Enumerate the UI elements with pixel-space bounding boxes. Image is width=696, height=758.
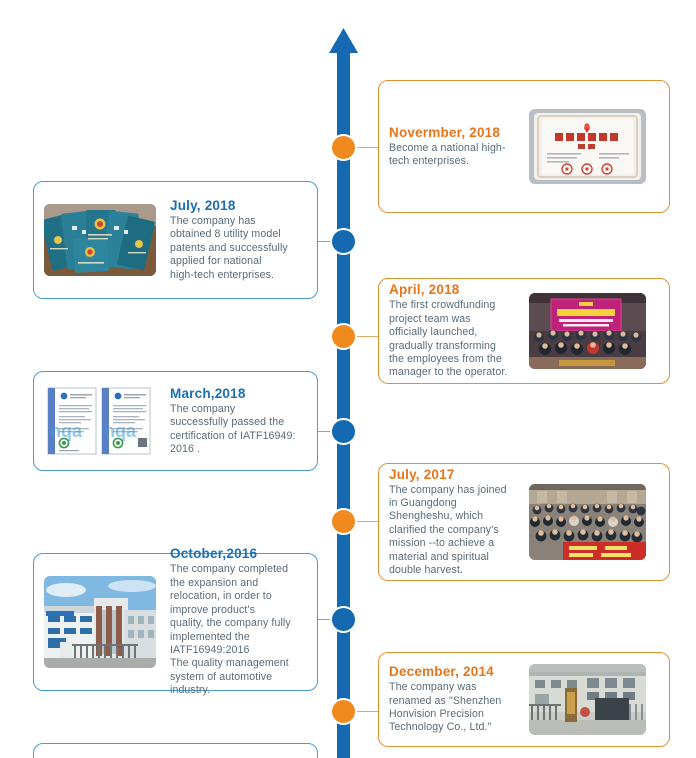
timeline-card-mar-2018[interactable]: nqa nqa March,2018 The company successfu… (33, 371, 318, 471)
timeline-node-dec-2014[interactable] (330, 698, 357, 725)
timeline-card-dec-2014[interactable]: December, 2014 The company was renamed a… (378, 652, 670, 747)
timeline-card-jul-2017[interactable]: July, 2017 The company has joined in Gua… (378, 463, 670, 581)
timeline-node-apr-2018[interactable] (330, 323, 357, 350)
timeline-node-mar-2018[interactable] (330, 418, 357, 445)
timeline-node-jul-2018[interactable] (330, 228, 357, 255)
photo-shengheshu-group-banner-photo (529, 484, 646, 560)
card-body: Become a national high- tech enterprises… (389, 142, 519, 169)
timeline-card-jul-2018[interactable]: July, 2018 The company has obtained 8 ut… (33, 181, 318, 299)
card-body: The company completed the expansion and … (170, 563, 296, 697)
photo-patent-certificates-stack (44, 204, 156, 276)
card-body: The company has obtained 8 utility model… (170, 215, 296, 282)
timeline-card-oct-2016[interactable]: October,2016 The company completed the e… (33, 553, 318, 691)
timeline-infographic: Novermber, 2018 Become a national high- … (0, 0, 696, 758)
card-body: The first crowdfunding project team was … (389, 299, 519, 379)
timeline-card-apr-2018[interactable]: April, 2018 The first crowdfunding proje… (378, 278, 670, 384)
timeline-node-oct-2016[interactable] (330, 606, 357, 633)
svg-text:nqa: nqa (50, 421, 83, 441)
timeline-card-partial-bottom[interactable] (33, 743, 318, 758)
card-body: The company successfully passed the cert… (170, 403, 296, 457)
photo-nqa-iatf-certificates: nqa nqa (44, 385, 156, 457)
photo-crowdfunding-team-group-photo (529, 293, 646, 369)
card-title: October,2016 (170, 546, 296, 561)
svg-text:nqa: nqa (104, 421, 137, 441)
card-title: December, 2014 (389, 664, 519, 679)
card-title: Novermber, 2018 (389, 125, 519, 140)
timeline-node-jul-2017[interactable] (330, 508, 357, 535)
photo-company-building-exterior (44, 576, 156, 668)
timeline-node-nov-2018[interactable] (330, 134, 357, 161)
photo-high-tech-enterprise-certificate (529, 109, 646, 184)
card-title: April, 2018 (389, 282, 519, 297)
card-title: July, 2018 (170, 198, 296, 213)
card-body: The company was renamed as "Shenzhen Hon… (389, 681, 519, 735)
card-title: March,2018 (170, 386, 296, 401)
timeline-card-nov-2018[interactable]: Novermber, 2018 Become a national high- … (378, 80, 670, 213)
card-body: The company has joined in Guangdong Shen… (389, 484, 519, 578)
photo-factory-gate-exterior (529, 664, 646, 735)
card-title: July, 2017 (389, 467, 519, 482)
